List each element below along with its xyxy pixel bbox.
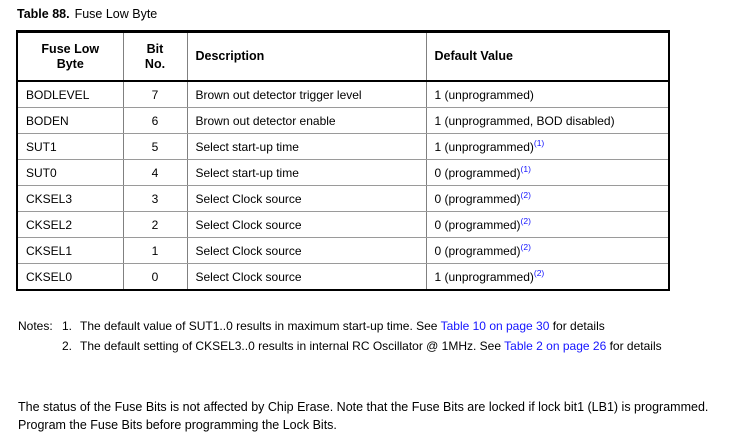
column-header-fuse-line1: Fuse Low <box>26 42 115 57</box>
column-header-fuse-line2: Byte <box>26 57 115 72</box>
closing-paragraph: The status of the Fuse Bits is not affec… <box>18 398 742 434</box>
table-title: Fuse Low Byte <box>75 7 158 21</box>
cell-fuse-name: CKSEL0 <box>17 264 123 291</box>
note-cross-reference-link[interactable]: Table 10 on page 30 <box>441 319 550 333</box>
cell-fuse-name: BODEN <box>17 108 123 134</box>
cell-default-value: 0 (programmed)(2) <box>426 186 669 212</box>
note-cross-reference-link[interactable]: Table 2 on page 26 <box>504 339 606 353</box>
note-item: 1.The default value of SUT1..0 results i… <box>62 318 740 335</box>
cell-bit-no: 1 <box>123 238 187 264</box>
cell-default-value: 0 (programmed)(2) <box>426 212 669 238</box>
default-value-text: 0 (programmed) <box>435 166 521 180</box>
cell-description: Select Clock source <box>187 238 426 264</box>
cell-fuse-name: CKSEL2 <box>17 212 123 238</box>
note-number: 2. <box>62 338 72 355</box>
note-number: 1. <box>62 318 72 335</box>
cell-default-value: 0 (programmed)(1) <box>426 160 669 186</box>
note-text-before: The default setting of CKSEL3..0 results… <box>80 339 504 353</box>
column-header-default-value: Default Value <box>426 32 669 82</box>
table-caption: Table 88.Fuse Low Byte <box>17 6 157 22</box>
cell-default-value: 1 (unprogrammed)(2) <box>426 264 669 291</box>
notes-label: Notes: <box>18 318 62 335</box>
column-header-description: Description <box>187 32 426 82</box>
default-value-text: 0 (programmed) <box>435 192 521 206</box>
cell-fuse-name: SUT0 <box>17 160 123 186</box>
table-row: CKSEL2 2 Select Clock source 0 (programm… <box>17 212 669 238</box>
cell-description: Select start-up time <box>187 160 426 186</box>
table-row: CKSEL0 0 Select Clock source 1 (unprogra… <box>17 264 669 291</box>
table-row: SUT0 4 Select start-up time 0 (programme… <box>17 160 669 186</box>
cell-bit-no: 5 <box>123 134 187 160</box>
cell-description: Select start-up time <box>187 134 426 160</box>
table-body: BODLEVEL 7 Brown out detector trigger le… <box>17 81 669 290</box>
table-row: CKSEL1 1 Select Clock source 0 (programm… <box>17 238 669 264</box>
table-row: SUT1 5 Select start-up time 1 (unprogram… <box>17 134 669 160</box>
note-text-before: The default value of SUT1..0 results in … <box>80 319 441 333</box>
footnote-marker: (1) <box>521 164 531 174</box>
cell-fuse-name: BODLEVEL <box>17 81 123 108</box>
default-value-text: 1 (unprogrammed) <box>435 140 534 154</box>
cell-default-value: 0 (programmed)(2) <box>426 238 669 264</box>
cell-bit-no: 6 <box>123 108 187 134</box>
footnote-marker: (2) <box>521 190 531 200</box>
default-value-text: 0 (programmed) <box>435 218 521 232</box>
cell-description: Brown out detector trigger level <box>187 81 426 108</box>
cell-fuse-name: CKSEL1 <box>17 238 123 264</box>
notes-list: 1.The default value of SUT1..0 results i… <box>62 318 740 354</box>
table-row: BODEN 6 Brown out detector enable 1 (unp… <box>17 108 669 134</box>
cell-description: Select Clock source <box>187 186 426 212</box>
note-item: 2.The default setting of CKSEL3..0 resul… <box>62 338 740 355</box>
table-row: CKSEL3 3 Select Clock source 0 (programm… <box>17 186 669 212</box>
table-number: Table 88. <box>17 7 70 21</box>
footnote-marker: (2) <box>534 268 544 278</box>
footnote-marker: (2) <box>521 242 531 252</box>
cell-description: Brown out detector enable <box>187 108 426 134</box>
cell-bit-no: 4 <box>123 160 187 186</box>
column-header-bit-line1: Bit <box>132 42 179 57</box>
fuse-low-byte-table: Fuse Low Byte Bit No. Description Defaul… <box>16 30 670 291</box>
cell-default-value: 1 (unprogrammed)(1) <box>426 134 669 160</box>
default-value-text: 1 (unprogrammed, BOD disabled) <box>435 114 615 128</box>
footnote-marker: (2) <box>521 216 531 226</box>
notes-block: Notes: 1.The default value of SUT1..0 re… <box>18 318 740 357</box>
default-value-text: 0 (programmed) <box>435 244 521 258</box>
column-header-fuse-low-byte: Fuse Low Byte <box>17 32 123 82</box>
cell-description: Select Clock source <box>187 212 426 238</box>
cell-default-value: 1 (unprogrammed) <box>426 81 669 108</box>
cell-bit-no: 2 <box>123 212 187 238</box>
note-text-after: for details <box>549 319 604 333</box>
cell-default-value: 1 (unprogrammed, BOD disabled) <box>426 108 669 134</box>
table-row: BODLEVEL 7 Brown out detector trigger le… <box>17 81 669 108</box>
cell-bit-no: 7 <box>123 81 187 108</box>
cell-description: Select Clock source <box>187 264 426 291</box>
table-header-row: Fuse Low Byte Bit No. Description Defaul… <box>17 32 669 82</box>
column-header-bit-line2: No. <box>132 57 179 72</box>
footnote-marker: (1) <box>534 138 544 148</box>
cell-bit-no: 0 <box>123 264 187 291</box>
cell-fuse-name: CKSEL3 <box>17 186 123 212</box>
column-header-bit-no: Bit No. <box>123 32 187 82</box>
cell-fuse-name: SUT1 <box>17 134 123 160</box>
default-value-text: 1 (unprogrammed) <box>435 88 534 102</box>
cell-bit-no: 3 <box>123 186 187 212</box>
default-value-text: 1 (unprogrammed) <box>435 270 534 284</box>
note-text-after: for details <box>606 339 661 353</box>
